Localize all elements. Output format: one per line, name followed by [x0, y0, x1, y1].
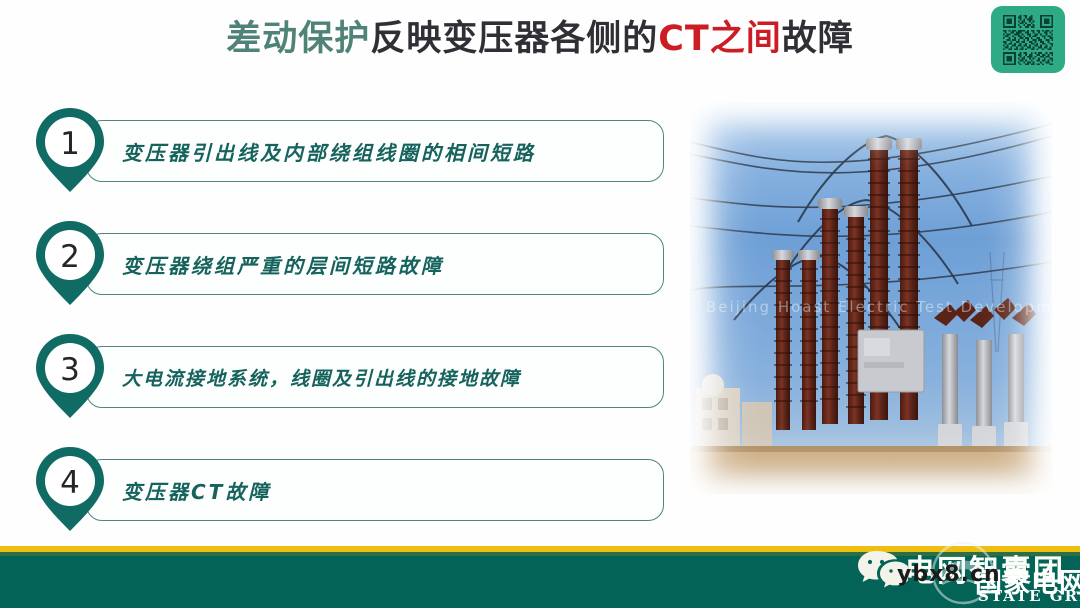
title-part-3: CT之间 [658, 19, 782, 59]
list-item-number: 3 [60, 352, 80, 388]
list-item[interactable]: 3 大电流接地系统，线圈及引出线的接地故障 [18, 330, 668, 422]
list-item-label: 变压器引出线及内部绕组线圈的相间短路 [122, 120, 662, 182]
title-part-2: 反映变压器各侧的 [370, 19, 658, 59]
list-item-number: 4 [60, 465, 80, 501]
photo-watermark: Beijing Hoast Electric Test Development [706, 298, 1036, 316]
list-item[interactable]: 2 变压器绕组严重的层间短路故障 [18, 217, 668, 309]
list-item[interactable]: 4 变压器CT故障 [18, 443, 668, 535]
list-item[interactable]: 1 变压器引出线及内部绕组线圈的相间短路 [18, 104, 668, 196]
slide-canvas: 差动保护反映变压器各侧的CT之间故障 1 变压器引出线及内部绕组线圈的相间短路 … [0, 0, 1080, 608]
list-item-number: 1 [60, 126, 80, 162]
title-part-4: 故障 [782, 19, 854, 59]
list-item-label: 变压器绕组严重的层间短路故障 [122, 233, 662, 295]
list-item-number: 2 [60, 239, 80, 275]
site-watermark: ybx8.cn [897, 562, 1001, 587]
list-item-label: 变压器CT故障 [122, 459, 662, 521]
substation-photo: Beijing Hoast Electric Test Development [690, 102, 1052, 494]
page-title: 差动保护反映变压器各侧的CT之间故障 [0, 18, 1080, 62]
list-item-label: 大电流接地系统，线圈及引出线的接地故障 [122, 346, 662, 408]
title-part-1: 差动保护 [226, 19, 370, 59]
state-grid-name-en: STATE GRID [978, 587, 1080, 605]
